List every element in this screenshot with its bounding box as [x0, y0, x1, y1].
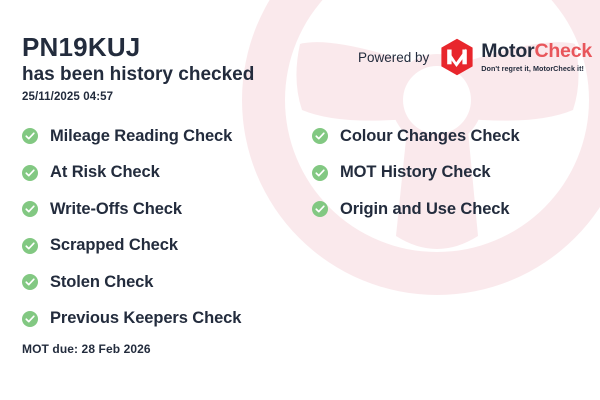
check-circle-icon — [312, 165, 328, 181]
check-circle-icon — [22, 274, 38, 290]
list-item-label: Origin and Use Check — [340, 200, 509, 219]
brand-name: MotorCheck — [481, 42, 592, 62]
check-circle-icon — [22, 311, 38, 327]
list-item-label: Previous Keepers Check — [50, 309, 241, 328]
list-item-label: Write-Offs Check — [50, 200, 182, 219]
check-circle-icon — [22, 201, 38, 217]
list-item: Stolen Check — [22, 264, 241, 301]
list-item-label: Mileage Reading Check — [50, 127, 232, 146]
list-item: At Risk Check — [22, 155, 241, 192]
list-item-label: Colour Changes Check — [340, 127, 520, 146]
checks-column-right: Colour Changes Check MOT History Check O… — [312, 118, 520, 228]
motorcheck-logo[interactable]: MotorCheck Don't regret it, MotorCheck i… — [440, 38, 592, 76]
page-title: PN19KUJ — [22, 34, 140, 61]
check-circle-icon — [312, 128, 328, 144]
list-item: Colour Changes Check — [312, 118, 520, 155]
check-circle-icon — [312, 201, 328, 217]
list-item: Write-Offs Check — [22, 191, 241, 228]
list-item-label: Stolen Check — [50, 273, 153, 292]
mot-due-label: MOT due: 28 Feb 2026 — [22, 342, 151, 356]
list-item-label: Scrapped Check — [50, 236, 178, 255]
checks-column-left: Mileage Reading Check At Risk Check Writ… — [22, 118, 241, 337]
list-item-label: MOT History Check — [340, 163, 491, 182]
page-subtitle: has been history checked — [22, 64, 254, 86]
list-item: Origin and Use Check — [312, 191, 520, 228]
brand-name-check: Check — [534, 40, 592, 62]
vehicle-history-check-card: PN19KUJ has been history checked 25/11/2… — [0, 0, 600, 400]
list-item: Mileage Reading Check — [22, 118, 241, 155]
list-item-label: At Risk Check — [50, 163, 160, 182]
motorcheck-wordmark: MotorCheck Don't regret it, MotorCheck i… — [481, 42, 592, 72]
list-item: Previous Keepers Check — [22, 301, 241, 338]
powered-by-block: Powered by MotorCheck Don't regret it, M… — [358, 38, 592, 76]
check-circle-icon — [22, 165, 38, 181]
brand-tagline: Don't regret it, MotorCheck it! — [481, 65, 592, 72]
check-circle-icon — [22, 128, 38, 144]
check-timestamp: 25/11/2025 04:57 — [22, 91, 113, 103]
powered-by-label: Powered by — [358, 50, 429, 65]
list-item: Scrapped Check — [22, 228, 241, 265]
motorcheck-hexagon-logo-icon — [440, 38, 474, 76]
brand-name-motor: Motor — [481, 40, 534, 62]
check-circle-icon — [22, 238, 38, 254]
list-item: MOT History Check — [312, 155, 520, 192]
